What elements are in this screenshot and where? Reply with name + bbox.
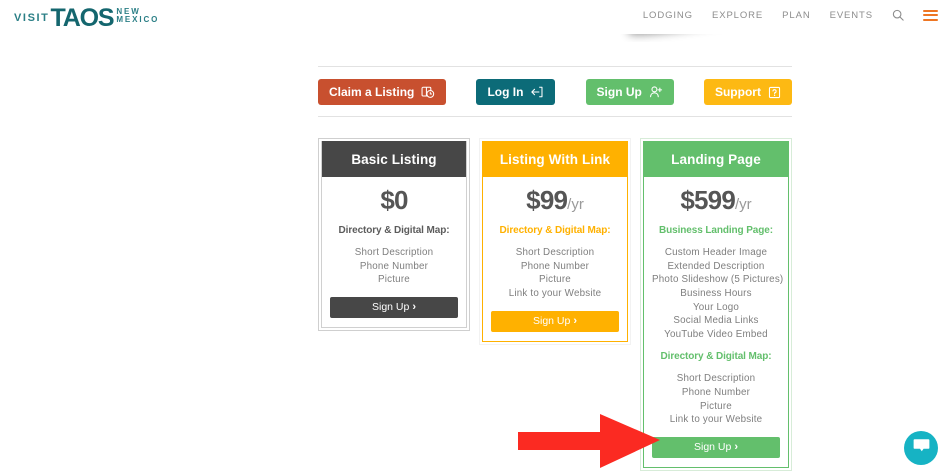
feature-list: Short Description Phone Number Picture L…	[652, 372, 780, 426]
pricing-sign-up-button-landing[interactable]: Sign Up ›	[652, 437, 780, 458]
account-action-buttons: Claim a Listing Log In Si	[318, 79, 792, 105]
pricing-sign-up-label: Sign Up	[533, 316, 570, 327]
chat-bubble-icon	[913, 438, 930, 458]
feature-list: Short Description Phone Number Picture L…	[491, 246, 619, 300]
price-period: /yr	[735, 196, 752, 213]
feature-item: Picture	[330, 273, 458, 287]
pricing-card-basic-listing: Basic Listing $0 Directory & Digital Map…	[318, 138, 470, 331]
feature-item: Photo Slideshow (5 Pictures)	[652, 273, 780, 287]
hamburger-menu-icon[interactable]	[923, 10, 938, 21]
logo-visit-text: VISIT	[14, 12, 50, 24]
price-amount: $599	[680, 185, 735, 215]
pricing-sign-up-label: Sign Up	[694, 442, 731, 453]
pricing-card-landing-page: Landing Page $599/yr Business Landing Pa…	[640, 138, 792, 471]
feature-section-label: Directory & Digital Map:	[330, 225, 458, 237]
divider-below-buttons	[318, 116, 792, 117]
page-root: VISIT TAOS NEW MEXICO LODGING EXPLORE PL…	[0, 0, 950, 475]
hamburger-bar	[923, 10, 938, 12]
feature-item: Short Description	[652, 372, 780, 386]
pricing-card-inner: Landing Page $599/yr Business Landing Pa…	[643, 141, 789, 468]
sign-up-label: Sign Up	[597, 86, 642, 98]
claim-a-listing-label: Claim a Listing	[329, 86, 414, 98]
price-amount: $99	[526, 185, 567, 215]
logo-taos-text: TAOS	[51, 6, 114, 31]
pricing-card-title: Basic Listing	[322, 141, 466, 177]
tag-clock-icon	[421, 85, 435, 99]
pricing-card-body: $0 Directory & Digital Map: Short Descri…	[322, 177, 466, 327]
log-in-label: Log In	[487, 86, 523, 98]
pricing-card-listing-with-link: Listing With Link $99/yr Directory & Dig…	[479, 138, 631, 345]
feature-item: Short Description	[330, 246, 458, 260]
feature-list: Short Description Phone Number Picture	[330, 246, 458, 287]
pricing-card-inner: Listing With Link $99/yr Directory & Dig…	[482, 141, 628, 342]
hamburger-bar	[923, 19, 938, 21]
feature-item: Picture	[491, 273, 619, 287]
chevron-right-icon: ›	[412, 302, 416, 313]
feature-item: Link to your Website	[491, 287, 619, 301]
pricing-card-title: Landing Page	[644, 141, 788, 177]
main-navigation: LODGING EXPLORE PLAN EVENTS	[643, 9, 938, 21]
price-period: /yr	[567, 196, 584, 213]
search-icon[interactable]	[892, 9, 904, 21]
feature-section-label: Directory & Digital Map:	[652, 351, 780, 363]
feature-section-label: Business Landing Page:	[652, 225, 780, 237]
support-label: Support	[715, 86, 761, 98]
pricing-sign-up-button-basic[interactable]: Sign Up ›	[330, 297, 458, 318]
sign-up-button[interactable]: Sign Up	[586, 79, 674, 105]
pricing-card-price: $599/yr	[652, 187, 780, 214]
claim-a-listing-button[interactable]: Claim a Listing	[318, 79, 446, 105]
chevron-right-icon: ›	[734, 442, 738, 453]
chevron-right-icon: ›	[573, 316, 577, 327]
feature-item: YouTube Video Embed	[652, 328, 780, 342]
price-amount: $0	[380, 185, 407, 215]
feature-item: Your Logo	[652, 301, 780, 315]
pricing-cards-row: Basic Listing $0 Directory & Digital Map…	[318, 138, 792, 471]
feature-item: Custom Header Image	[652, 246, 780, 260]
pricing-card-price: $0	[330, 187, 458, 214]
feature-item: Business Hours	[652, 287, 780, 301]
logo-state-text: NEW MEXICO	[116, 8, 159, 24]
feature-section-label: Directory & Digital Map:	[491, 225, 619, 237]
question-box-icon	[768, 86, 781, 99]
feature-item: Link to your Website	[652, 413, 780, 427]
pricing-card-price: $99/yr	[491, 187, 619, 214]
pricing-card-body: $99/yr Directory & Digital Map: Short De…	[483, 177, 627, 341]
user-plus-icon	[649, 85, 663, 99]
feature-item: Short Description	[491, 246, 619, 260]
feature-item: Phone Number	[330, 260, 458, 274]
divider-above-buttons	[318, 66, 792, 67]
feature-item: Extended Description	[652, 260, 780, 274]
hamburger-bar	[923, 14, 938, 16]
log-in-button[interactable]: Log In	[476, 79, 555, 105]
pricing-sign-up-button-link[interactable]: Sign Up ›	[491, 311, 619, 332]
feature-item: Picture	[652, 400, 780, 414]
nav-item-plan[interactable]: PLAN	[782, 10, 810, 21]
feature-item: Social Media Links	[652, 314, 780, 328]
nav-item-events[interactable]: EVENTS	[830, 10, 873, 21]
pricing-card-inner: Basic Listing $0 Directory & Digital Map…	[321, 141, 467, 328]
site-logo[interactable]: VISIT TAOS NEW MEXICO	[14, 4, 159, 28]
nav-item-lodging[interactable]: LODGING	[643, 10, 693, 21]
feature-list: Custom Header Image Extended Description…	[652, 246, 780, 341]
pricing-card-title: Listing With Link	[483, 141, 627, 177]
login-arrow-icon	[530, 85, 544, 99]
feature-item: Phone Number	[491, 260, 619, 274]
chat-widget-button[interactable]	[904, 431, 938, 465]
nav-item-explore[interactable]: EXPLORE	[712, 10, 763, 21]
support-button[interactable]: Support	[704, 79, 792, 105]
logo-state-line2: MEXICO	[116, 16, 159, 24]
pricing-sign-up-label: Sign Up	[372, 302, 409, 313]
feature-item: Phone Number	[652, 386, 780, 400]
pricing-card-body: $599/yr Business Landing Page: Custom He…	[644, 177, 788, 467]
site-header: VISIT TAOS NEW MEXICO LODGING EXPLORE PL…	[0, 0, 950, 34]
